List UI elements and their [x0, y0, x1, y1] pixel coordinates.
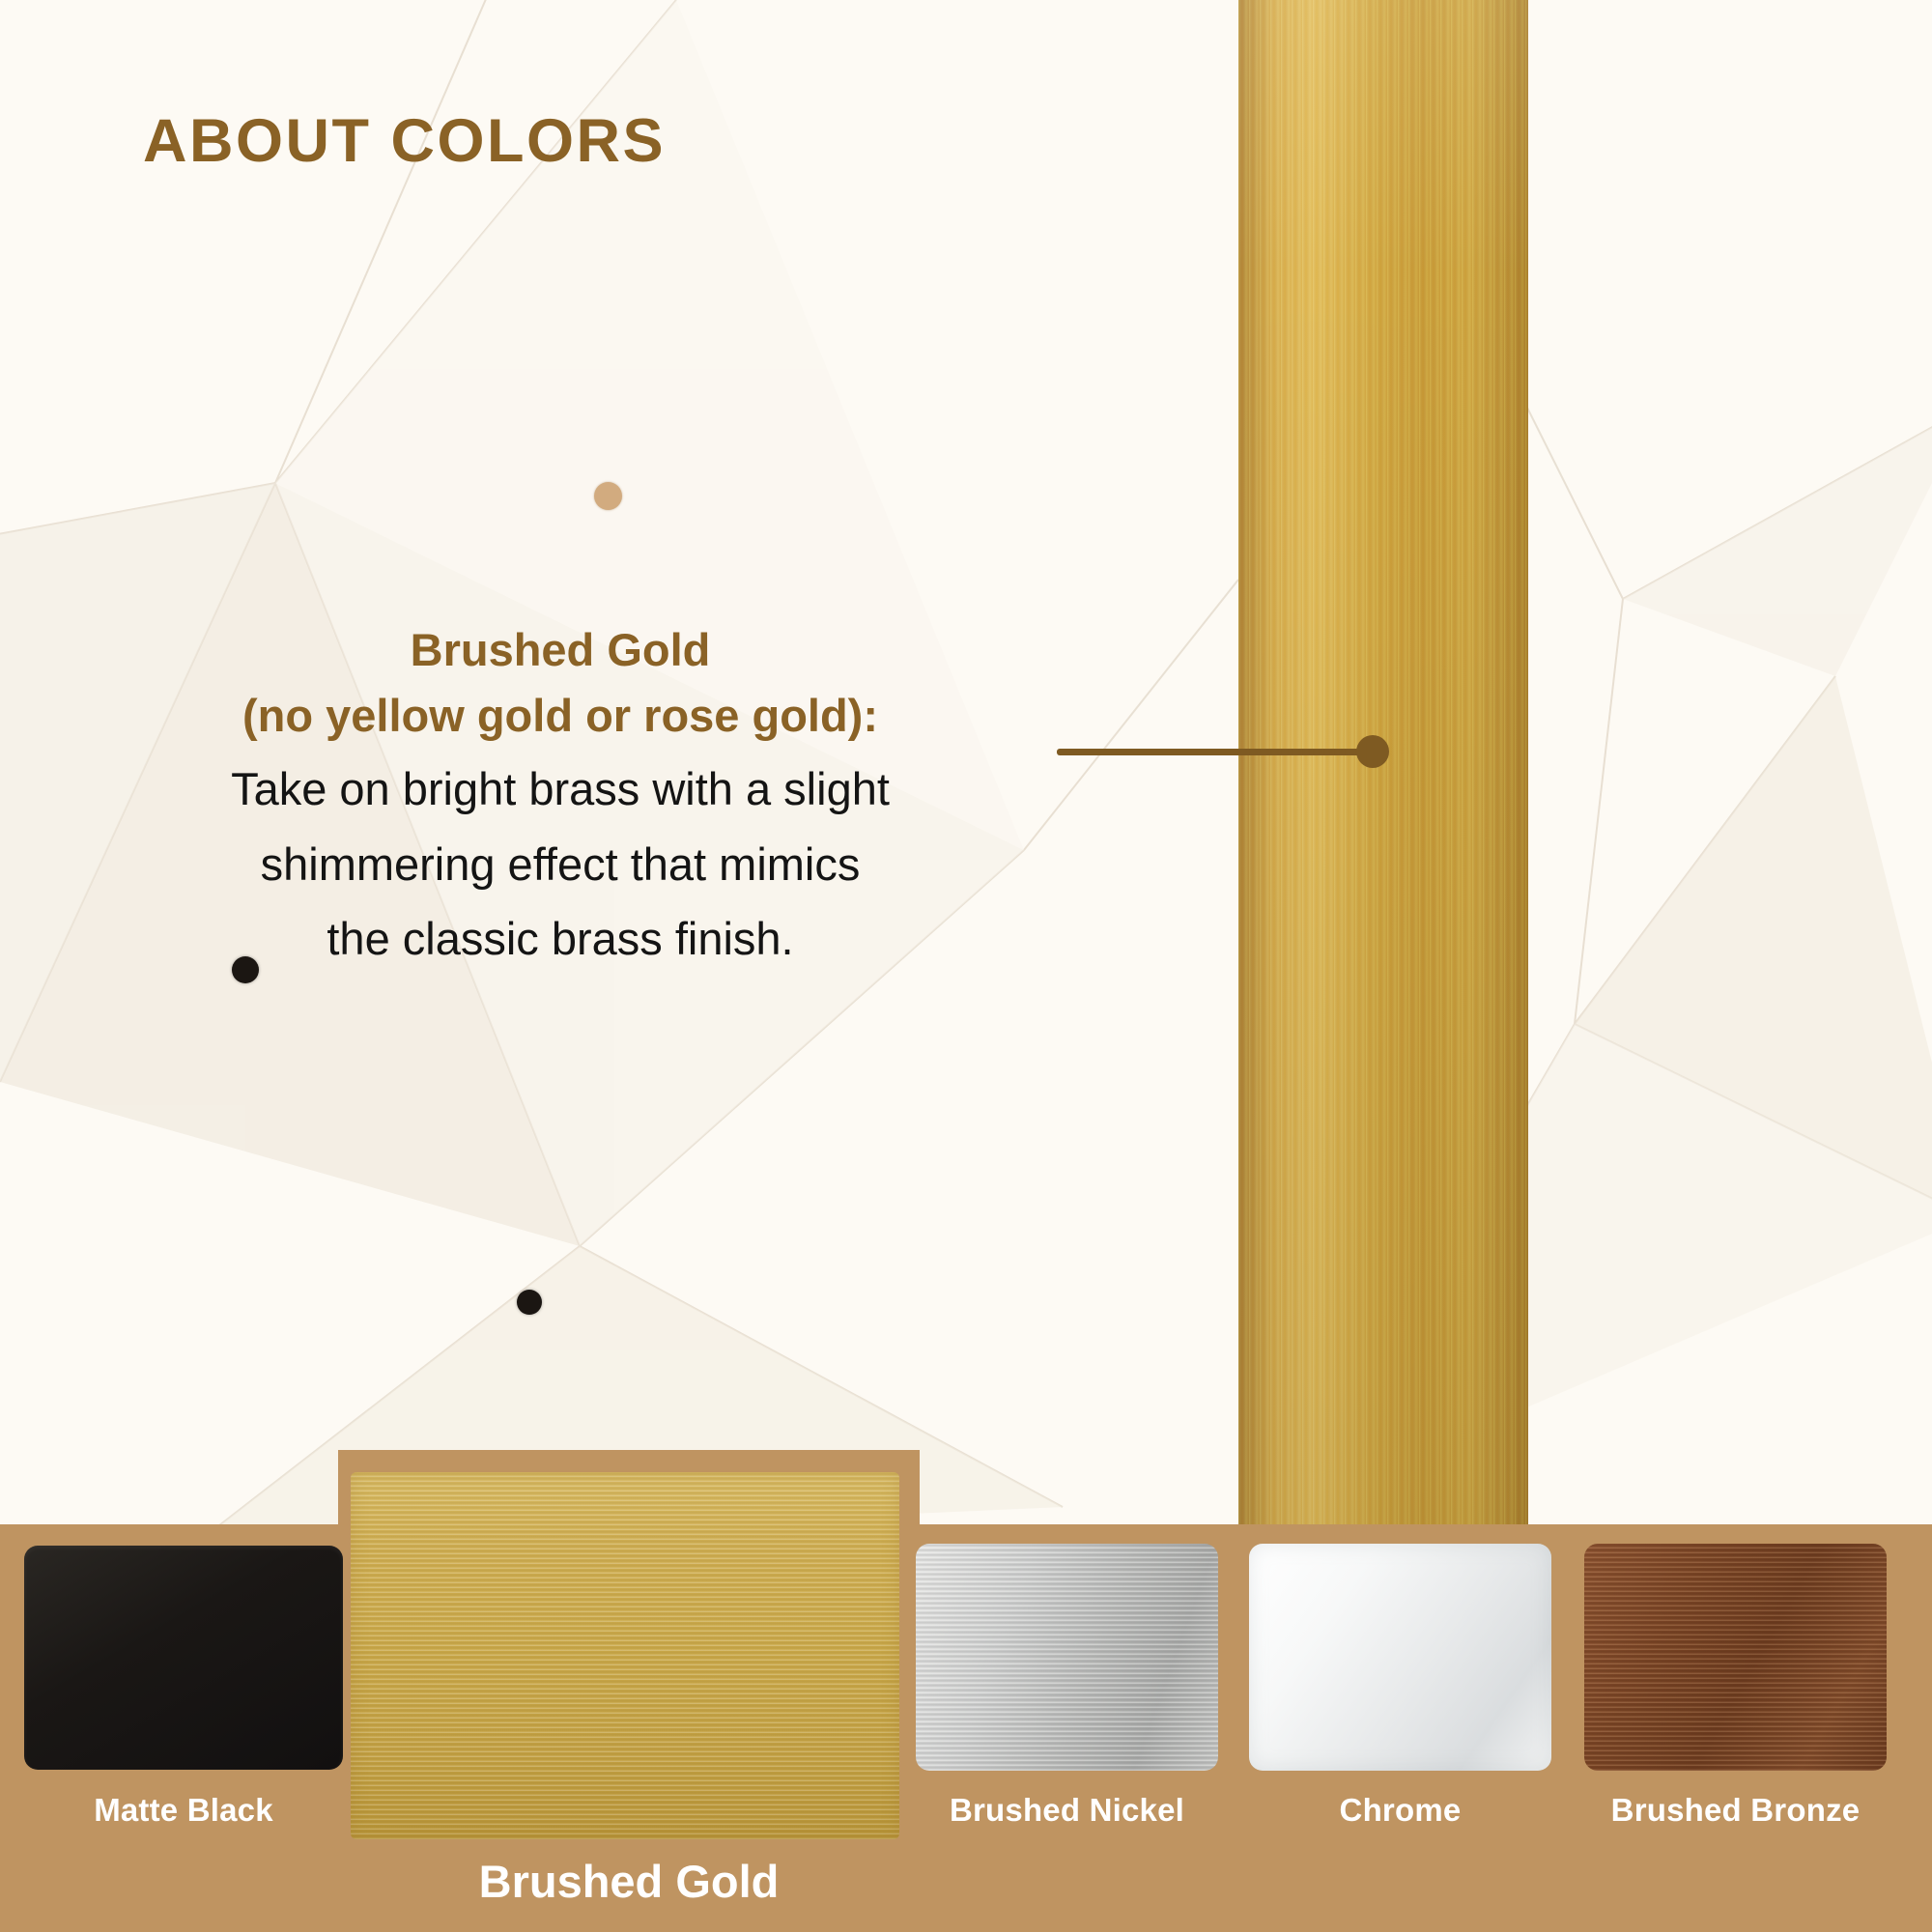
- page-title: ABOUT COLORS: [143, 106, 666, 176]
- annotation-endpoint-dot-icon: [1356, 735, 1389, 768]
- callout-text-block: Brushed Gold (no yellow gold or rose gol…: [116, 618, 1005, 974]
- swatch-label-matte-black: Matte Black: [24, 1792, 343, 1829]
- annotation-leader-line: [1057, 749, 1381, 755]
- decor-dot-black-icon: [517, 1290, 542, 1315]
- swatch-brushed-gold[interactable]: [351, 1472, 899, 1839]
- swatch-brushed-nickel[interactable]: [916, 1544, 1218, 1771]
- callout-body-line-2: shimmering effect that mimics: [116, 830, 1005, 898]
- swatch-chrome[interactable]: [1249, 1544, 1551, 1771]
- swatch-label-brushed-nickel: Brushed Nickel: [916, 1792, 1218, 1829]
- product-color-infographic: ABOUT COLORS Brushed Gold (no yellow gol…: [0, 0, 1932, 1932]
- swatch-label-brushed-gold: Brushed Gold: [338, 1855, 920, 1908]
- decor-dot-tan-icon: [594, 482, 622, 510]
- swatch-label-brushed-bronze: Brushed Bronze: [1584, 1792, 1887, 1829]
- callout-subtitle: (no yellow gold or rose gold):: [116, 682, 1005, 750]
- swatch-label-chrome: Chrome: [1249, 1792, 1551, 1829]
- callout-body-line-1: Take on bright brass with a slight: [116, 754, 1005, 823]
- callout-title: Brushed Gold: [116, 618, 1005, 682]
- swatch-matte-black[interactable]: [24, 1546, 343, 1770]
- callout-body-line-3: the classic brass finish.: [116, 904, 1005, 973]
- swatch-brushed-bronze[interactable]: [1584, 1544, 1887, 1771]
